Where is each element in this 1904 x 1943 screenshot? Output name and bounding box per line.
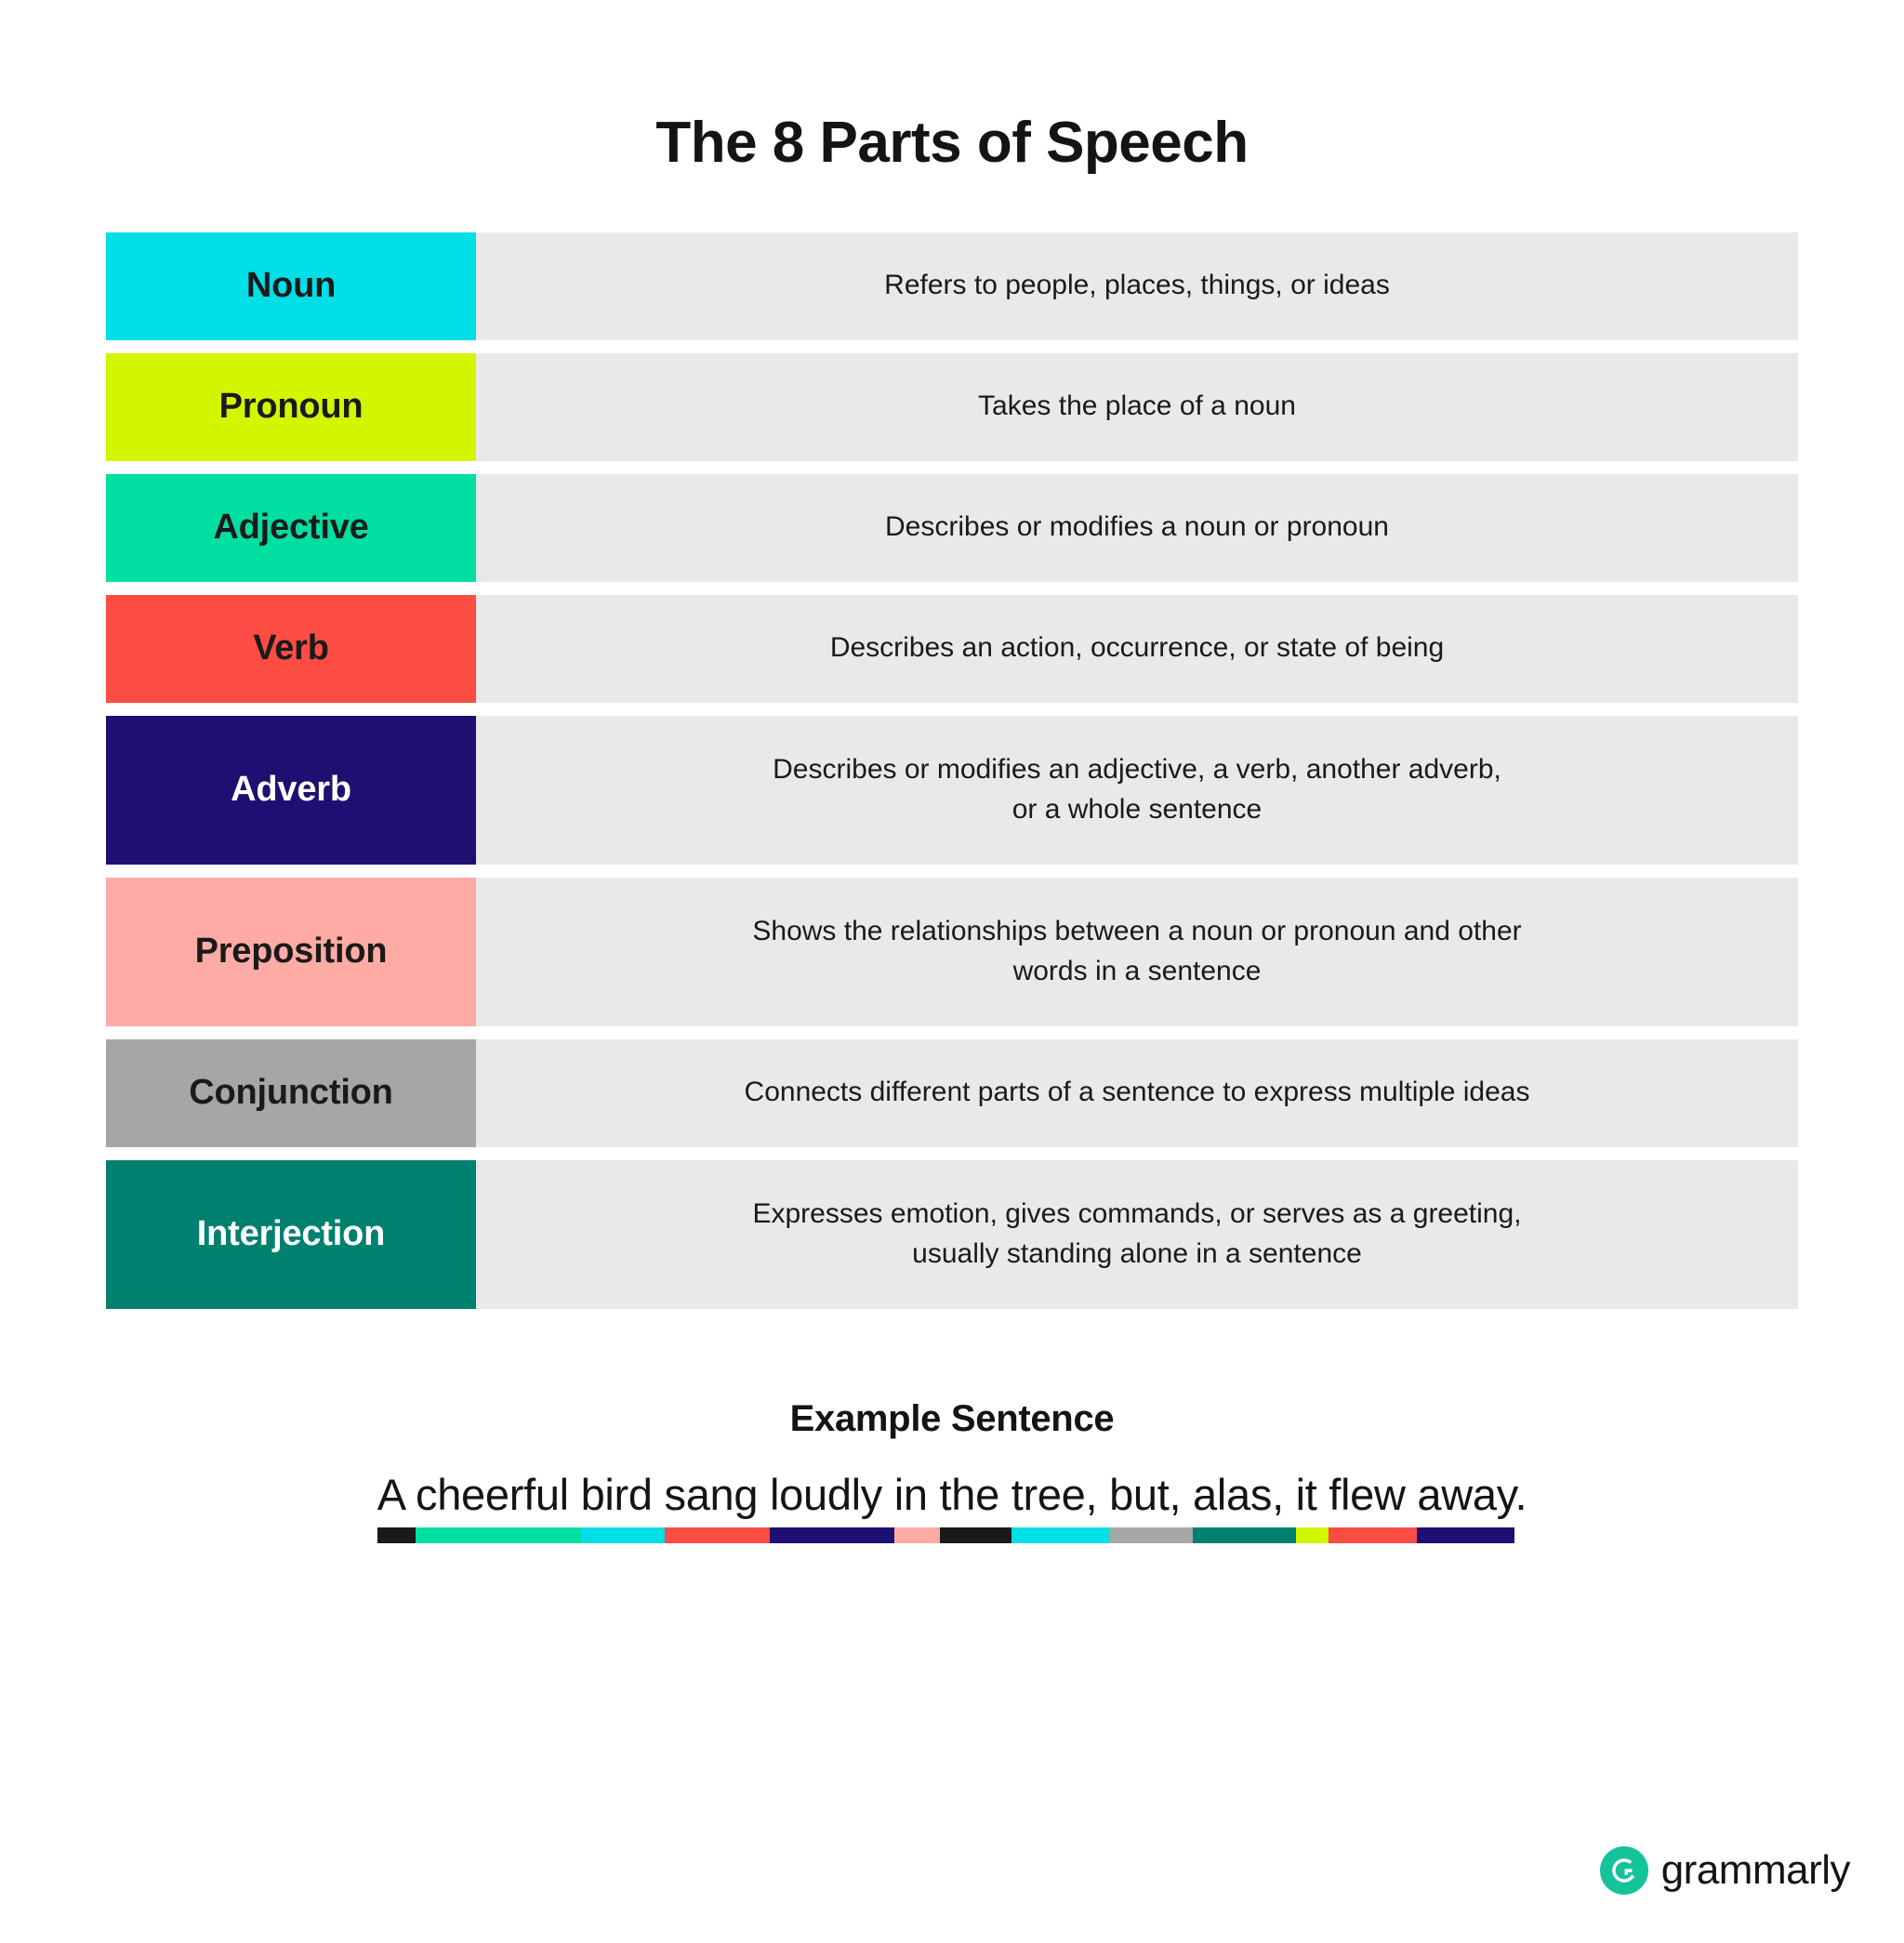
part-of-speech-label: Adjective xyxy=(106,474,476,582)
part-of-speech-label: Pronoun xyxy=(106,353,476,461)
sentence-word: alas xyxy=(1193,1470,1272,1519)
sentence-word: it xyxy=(1296,1470,1317,1519)
part-of-speech-description: Describes or modifies an adjective, a ve… xyxy=(476,716,1798,865)
sentence-word: but xyxy=(1109,1470,1169,1519)
part-of-speech-label: Verb xyxy=(106,595,476,703)
table-row: ConjunctionConnects different parts of a… xyxy=(106,1039,1798,1147)
sentence-separator: . xyxy=(1514,1470,1527,1519)
sentence-word: in xyxy=(894,1470,928,1519)
sentence-word: A xyxy=(377,1470,403,1519)
sentence-word: cheerful xyxy=(416,1470,569,1519)
grammarly-logo-text: grammarly xyxy=(1661,1847,1850,1894)
color-bar-segment xyxy=(1329,1527,1417,1543)
table-row: AdjectiveDescribes or modifies a noun or… xyxy=(106,474,1798,582)
part-of-speech-label: Adverb xyxy=(106,716,476,865)
example-sentence: A cheerful bird sang loudly in the tree,… xyxy=(377,1468,1527,1523)
sentence-word: bird xyxy=(581,1470,653,1519)
part-of-speech-description: Shows the relationships between a noun o… xyxy=(476,878,1798,1026)
table-row: VerbDescribes an action, occurrence, or … xyxy=(106,595,1798,703)
sentence-separator xyxy=(882,1470,894,1519)
color-bar-segment xyxy=(894,1527,940,1543)
color-bar-segment xyxy=(1193,1527,1296,1543)
table-row: PrepositionShows the relationships betwe… xyxy=(106,878,1798,1026)
part-of-speech-label: Noun xyxy=(106,232,476,340)
infographic-page: The 8 Parts of Speech NounRefers to peop… xyxy=(0,39,1904,1943)
part-of-speech-description: Describes an action, occurrence, or stat… xyxy=(476,595,1798,703)
parts-of-speech-table: NounRefers to people, places, things, or… xyxy=(106,232,1798,1322)
part-of-speech-color-bar xyxy=(377,1527,1515,1543)
part-of-speech-description: Refers to people, places, things, or ide… xyxy=(476,232,1798,340)
color-bar-segment xyxy=(581,1527,665,1543)
table-row: PronounTakes the place of a noun xyxy=(106,353,1798,461)
sentence-separator xyxy=(1317,1470,1329,1519)
example-heading: Example Sentence xyxy=(0,1398,1904,1440)
sentence-separator xyxy=(403,1470,416,1519)
sentence-separator: , xyxy=(1272,1470,1296,1519)
sentence-separator xyxy=(758,1470,770,1519)
table-row: NounRefers to people, places, things, or… xyxy=(106,232,1798,340)
color-bar-segment xyxy=(1109,1527,1193,1543)
sentence-separator: , xyxy=(1170,1470,1194,1519)
color-bar-segment xyxy=(770,1527,894,1543)
example-sentence-block: A cheerful bird sang loudly in the tree,… xyxy=(377,1468,1527,1544)
color-bar-segment xyxy=(940,1527,1011,1543)
color-bar-segment xyxy=(665,1527,770,1543)
color-bar-segment xyxy=(1417,1527,1514,1543)
sentence-word: loudly xyxy=(770,1470,882,1519)
sentence-separator: , xyxy=(1086,1470,1110,1519)
sentence-separator xyxy=(1406,1470,1418,1519)
table-row: AdverbDescribes or modifies an adjective… xyxy=(106,716,1798,865)
description-text: Takes the place of a noun xyxy=(978,387,1296,427)
part-of-speech-label: Interjection xyxy=(106,1160,476,1309)
sentence-word: away xyxy=(1417,1470,1514,1519)
color-bar-segment xyxy=(1296,1527,1329,1543)
sentence-word: the xyxy=(940,1470,999,1519)
part-of-speech-description: Expresses emotion, gives commands, or se… xyxy=(476,1160,1798,1309)
grammarly-logo-mark-icon xyxy=(1600,1846,1648,1895)
sentence-separator xyxy=(928,1470,940,1519)
grammarly-logo: grammarly xyxy=(1600,1846,1850,1895)
color-bar-segment xyxy=(1011,1527,1109,1543)
sentence-separator xyxy=(569,1470,581,1519)
description-text: Describes an action, occurrence, or stat… xyxy=(830,628,1444,668)
description-text: Shows the relationships between a noun o… xyxy=(752,912,1521,991)
description-text: Describes or modifies an adjective, a ve… xyxy=(773,750,1501,829)
part-of-speech-description: Connects different parts of a sentence t… xyxy=(476,1039,1798,1147)
sentence-word: tree xyxy=(1011,1470,1086,1519)
part-of-speech-description: Takes the place of a noun xyxy=(476,353,1798,461)
sentence-word: flew xyxy=(1329,1470,1405,1519)
sentence-separator xyxy=(999,1470,1011,1519)
sentence-separator xyxy=(653,1470,665,1519)
page-title: The 8 Parts of Speech xyxy=(0,39,1904,175)
part-of-speech-description: Describes or modifies a noun or pronoun xyxy=(476,474,1798,582)
description-text: Expresses emotion, gives commands, or se… xyxy=(752,1195,1521,1274)
example-section: Example Sentence A cheerful bird sang lo… xyxy=(0,1398,1904,1549)
description-text: Refers to people, places, things, or ide… xyxy=(884,266,1390,306)
part-of-speech-label: Conjunction xyxy=(106,1039,476,1147)
color-bar-segment xyxy=(416,1527,581,1543)
description-text: Describes or modifies a noun or pronoun xyxy=(885,508,1389,548)
description-text: Connects different parts of a sentence t… xyxy=(745,1073,1530,1113)
part-of-speech-label: Preposition xyxy=(106,878,476,1026)
table-row: InterjectionExpresses emotion, gives com… xyxy=(106,1160,1798,1309)
sentence-word: sang xyxy=(665,1470,759,1519)
color-bar-segment xyxy=(377,1527,416,1543)
